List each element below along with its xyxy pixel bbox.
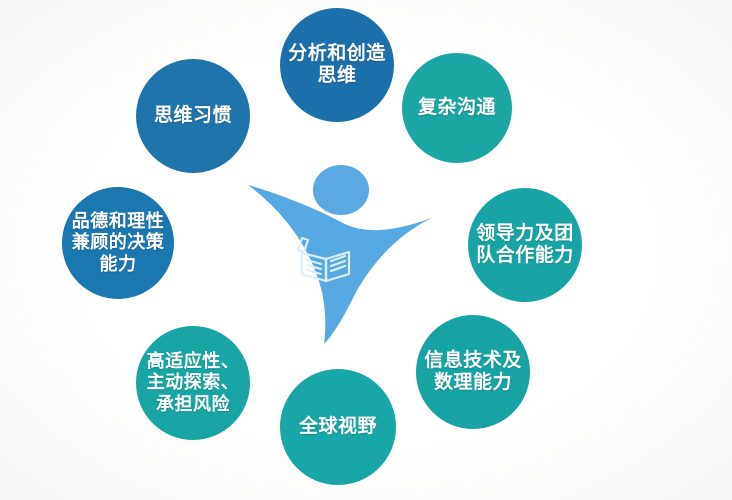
bubble-label: 信息技术及 数理能力 (418, 350, 528, 395)
bubble-label: 品德和理性 兼顾的决策 能力 (66, 211, 171, 275)
bubble-it-math-ability[interactable]: 信息技术及 数理能力 (416, 315, 530, 429)
bubble-analysis-creative-thinking[interactable]: 分析和创造 思维 (280, 8, 394, 122)
bubble-leadership-teamwork[interactable]: 领导力及团 队合作能力 (468, 188, 582, 302)
bubble-label: 领导力及团 队合作能力 (470, 223, 580, 268)
learner-figure-svg (246, 160, 436, 350)
bubble-label: 全球视野 (293, 416, 383, 438)
bubble-adaptability-initiative-risk[interactable]: 高适应性、 主动探索、 承担风险 (136, 326, 250, 440)
diagram-canvas: 分析和创造 思维 复杂沟通 领导力及团 队合作能力 信息技术及 数理能力 全球视… (0, 0, 732, 500)
bubble-ethical-rational-decision[interactable]: 品德和理性 兼顾的决策 能力 (62, 187, 174, 299)
bubble-thinking-habits[interactable]: 思维习惯 (136, 59, 250, 173)
figure-head-icon (313, 165, 369, 215)
bubble-label: 高适应性、 主动探索、 承担风险 (141, 351, 246, 415)
learner-figure (246, 160, 436, 350)
bubble-label: 分析和创造 思维 (282, 43, 392, 88)
bubble-label: 复杂沟通 (412, 97, 502, 119)
bubble-label: 思维习惯 (148, 105, 238, 127)
bubble-complex-communication[interactable]: 复杂沟通 (402, 53, 512, 163)
bubble-global-vision[interactable]: 全球视野 (280, 369, 396, 485)
